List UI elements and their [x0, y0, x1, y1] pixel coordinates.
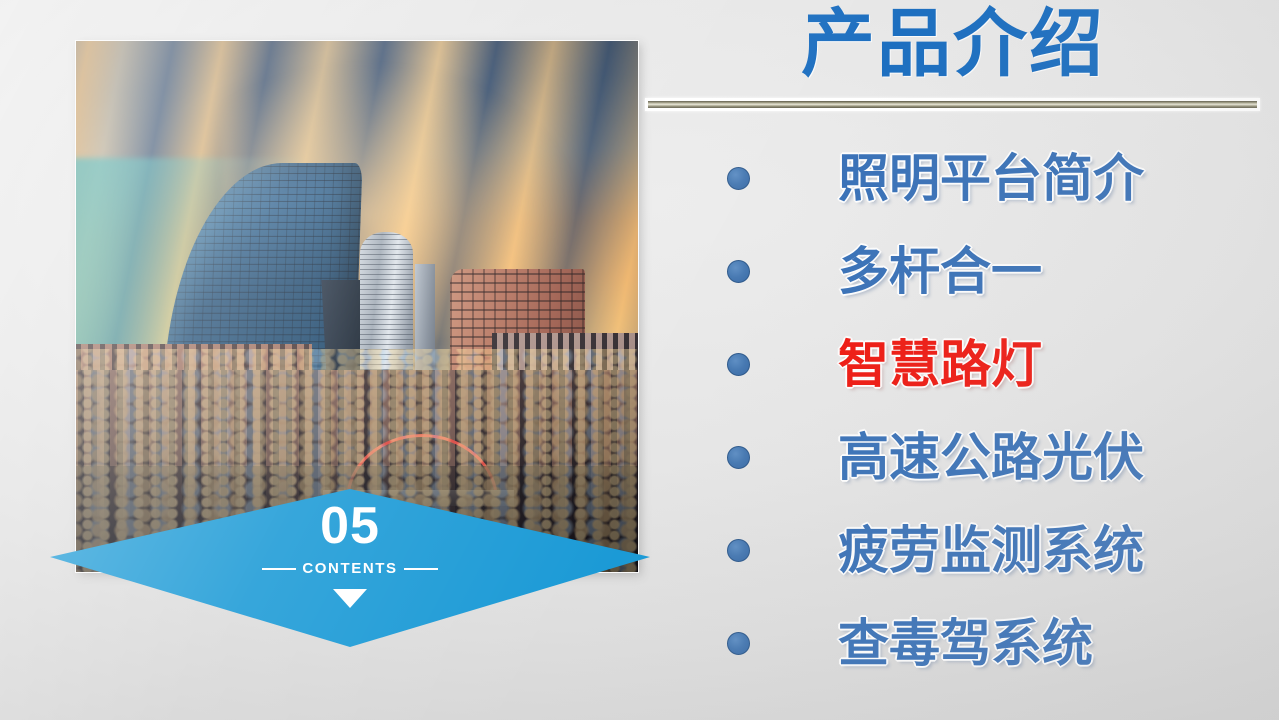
- agenda-item-3[interactable]: 智慧路灯: [700, 318, 1260, 411]
- page-title: 产品介绍: [645, 4, 1261, 84]
- agenda-item-2[interactable]: 多杆合一: [700, 225, 1260, 318]
- agenda-item-label: 疲劳监测系统: [838, 525, 1144, 576]
- contents-label-row: CONTENTS: [262, 560, 437, 577]
- agenda-item-6[interactable]: 查毒驾系统: [700, 597, 1260, 690]
- agenda-item-label: 多杆合一: [838, 246, 1042, 297]
- bullet-icon: [727, 353, 750, 376]
- slide-canvas: 05 CONTENTS 产品介绍 照明平台简介 多杆合一 智慧路灯 高速公路光伏: [0, 0, 1279, 720]
- rule-right: [404, 568, 438, 570]
- bullet-icon: [727, 167, 750, 190]
- bullet-icon: [727, 446, 750, 469]
- bullet-icon: [727, 632, 750, 655]
- bullet-icon: [727, 260, 750, 283]
- section-number: 05: [320, 500, 380, 552]
- agenda-item-1[interactable]: 照明平台简介: [700, 132, 1260, 225]
- agenda-item-5[interactable]: 疲劳监测系统: [700, 504, 1260, 597]
- title-divider: [645, 98, 1260, 111]
- agenda-item-label: 照明平台简介: [838, 153, 1144, 204]
- contents-badge: 05 CONTENTS: [50, 489, 650, 647]
- bullet-icon: [727, 539, 750, 562]
- agenda-list: 照明平台简介 多杆合一 智慧路灯 高速公路光伏 疲劳监测系统 查毒驾系统: [700, 132, 1260, 690]
- rule-left: [262, 568, 296, 570]
- agenda-item-label: 高速公路光伏: [838, 432, 1144, 483]
- agenda-item-4[interactable]: 高速公路光伏: [700, 411, 1260, 504]
- contents-label: CONTENTS: [302, 560, 397, 577]
- title-divider-bar: [648, 101, 1257, 108]
- agenda-item-label: 智慧路灯: [838, 339, 1042, 390]
- agenda-item-label: 查毒驾系统: [838, 618, 1093, 669]
- triangle-down-icon: [333, 589, 367, 608]
